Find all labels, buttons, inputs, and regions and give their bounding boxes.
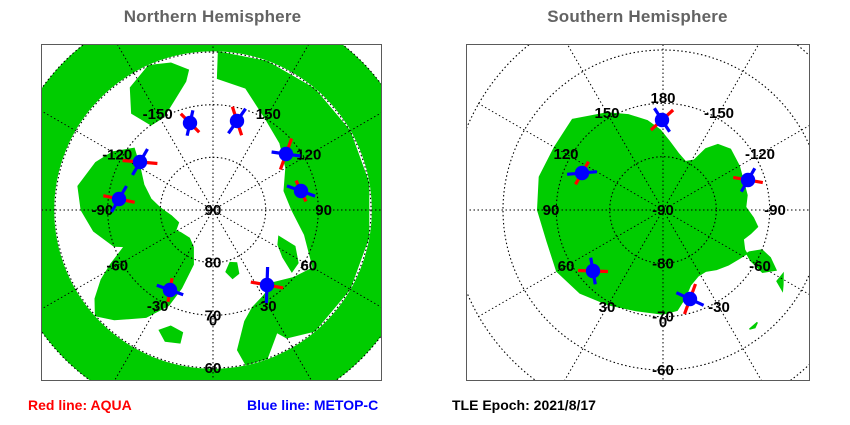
satellite-position-dot: [183, 116, 197, 130]
satellite-position-dot: [133, 155, 147, 169]
longitude-label-180: 180: [650, 90, 675, 107]
latitude-label--90: -90: [652, 202, 674, 219]
satellite-position-dot: [683, 292, 697, 306]
longitude-label--30: -30: [147, 298, 169, 315]
satellite-position-dot: [294, 184, 308, 198]
latitude-label-90: 90: [205, 202, 222, 219]
longitude-label-0: 0: [209, 313, 217, 330]
longitude-label--60: -60: [749, 258, 771, 275]
longitude-label-150: 150: [256, 106, 281, 123]
legend-aqua-label: Red line: AQUA: [28, 397, 132, 413]
longitude-label--150: -150: [143, 106, 173, 123]
northern-hemisphere-panel: Northern Hemisphere 90807060030609012015…: [0, 0, 425, 425]
satellite-position-dot: [230, 114, 244, 128]
longitude-label--90: -90: [764, 202, 786, 219]
latitude-label--60: -60: [652, 362, 674, 379]
southern-legend-row: TLE Epoch: 2021/8/17: [425, 397, 850, 419]
legend-metopc-label: Blue line: METOP-C: [247, 397, 378, 413]
longitude-label-60: 60: [558, 258, 575, 275]
satellite-position-dot: [260, 278, 274, 292]
southern-hemisphere-panel: Southern Hemisphere -90-80-70-6003060901…: [425, 0, 850, 425]
longitude-label-30: 30: [599, 299, 616, 316]
longitude-label--30: -30: [708, 299, 730, 316]
longitude-label-0: 0: [659, 314, 667, 331]
latitude-label--80: -80: [652, 255, 674, 272]
satellite-position-dot: [112, 192, 126, 206]
longitude-label-60: 60: [300, 257, 317, 274]
longitude-label-120: 120: [553, 146, 578, 163]
northern-polar-map-svg: 908070600306090120150-150-120-90-60-30: [42, 45, 382, 381]
longitude-label--60: -60: [106, 257, 128, 274]
northern-legend-row: Red line: AQUA Blue line: METOP-C: [0, 397, 425, 419]
longitude-label-90: 90: [315, 202, 332, 219]
longitude-label-150: 150: [594, 105, 619, 122]
longitude-label--150: -150: [704, 105, 734, 122]
satellite-tracking-figure: Northern Hemisphere 90807060030609012015…: [0, 0, 850, 425]
latitude-label-60: 60: [205, 360, 222, 377]
satellite-position-dot: [279, 147, 293, 161]
southern-hemisphere-plot[interactable]: -90-80-70-600306090120150180-150-120-90-…: [466, 44, 810, 381]
southern-polar-map-svg: -90-80-70-600306090120150180-150-120-90-…: [467, 45, 810, 381]
satellite-position-dot: [655, 113, 669, 127]
satellite-position-dot: [741, 173, 755, 187]
longitude-label--120: -120: [745, 146, 775, 163]
satellite-position-dot: [575, 166, 589, 180]
longitude-label--90: -90: [92, 202, 114, 219]
southern-hemisphere-title: Southern Hemisphere: [425, 7, 850, 27]
satellite-position-dot: [586, 264, 600, 278]
longitude-label-30: 30: [260, 298, 277, 315]
northern-hemisphere-plot[interactable]: 908070600306090120150-150-120-90-60-30: [41, 44, 382, 381]
northern-hemisphere-title: Northern Hemisphere: [0, 7, 425, 27]
tle-epoch-label: TLE Epoch: 2021/8/17: [452, 397, 596, 413]
latitude-label-80: 80: [205, 255, 222, 272]
longitude-label-90: 90: [543, 202, 560, 219]
satellite-position-dot: [163, 283, 177, 297]
